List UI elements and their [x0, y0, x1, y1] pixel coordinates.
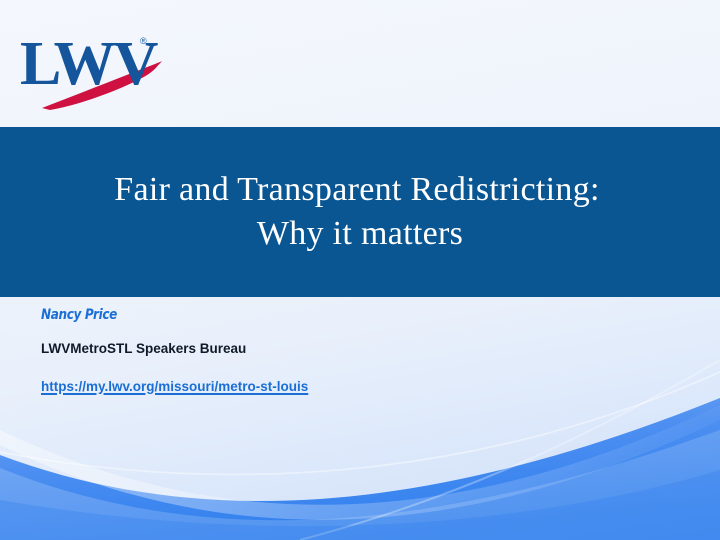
slide-title-line-2: Why it matters — [257, 212, 463, 256]
logo-wordmark: LWV — [20, 30, 159, 98]
presentation-slide: LWV ® Fair and Transparent Redistricting… — [0, 0, 720, 540]
presenter-name: Nancy Price — [41, 308, 574, 322]
title-banner: Fair and Transparent Redistricting: Why … — [0, 127, 720, 297]
lwv-logo: LWV ® — [20, 22, 180, 112]
organization-website-link[interactable]: https://my.lwv.org/missouri/metro-st-lou… — [41, 380, 308, 394]
slide-title-line-1: Fair and Transparent Redistricting: — [114, 168, 606, 212]
presenter-affiliation: LWVMetroSTL Speakers Bureau — [41, 342, 661, 356]
registered-trademark-icon: ® — [140, 36, 147, 46]
byline-block: Nancy Price LWVMetroSTL Speakers Bureau … — [41, 308, 661, 396]
